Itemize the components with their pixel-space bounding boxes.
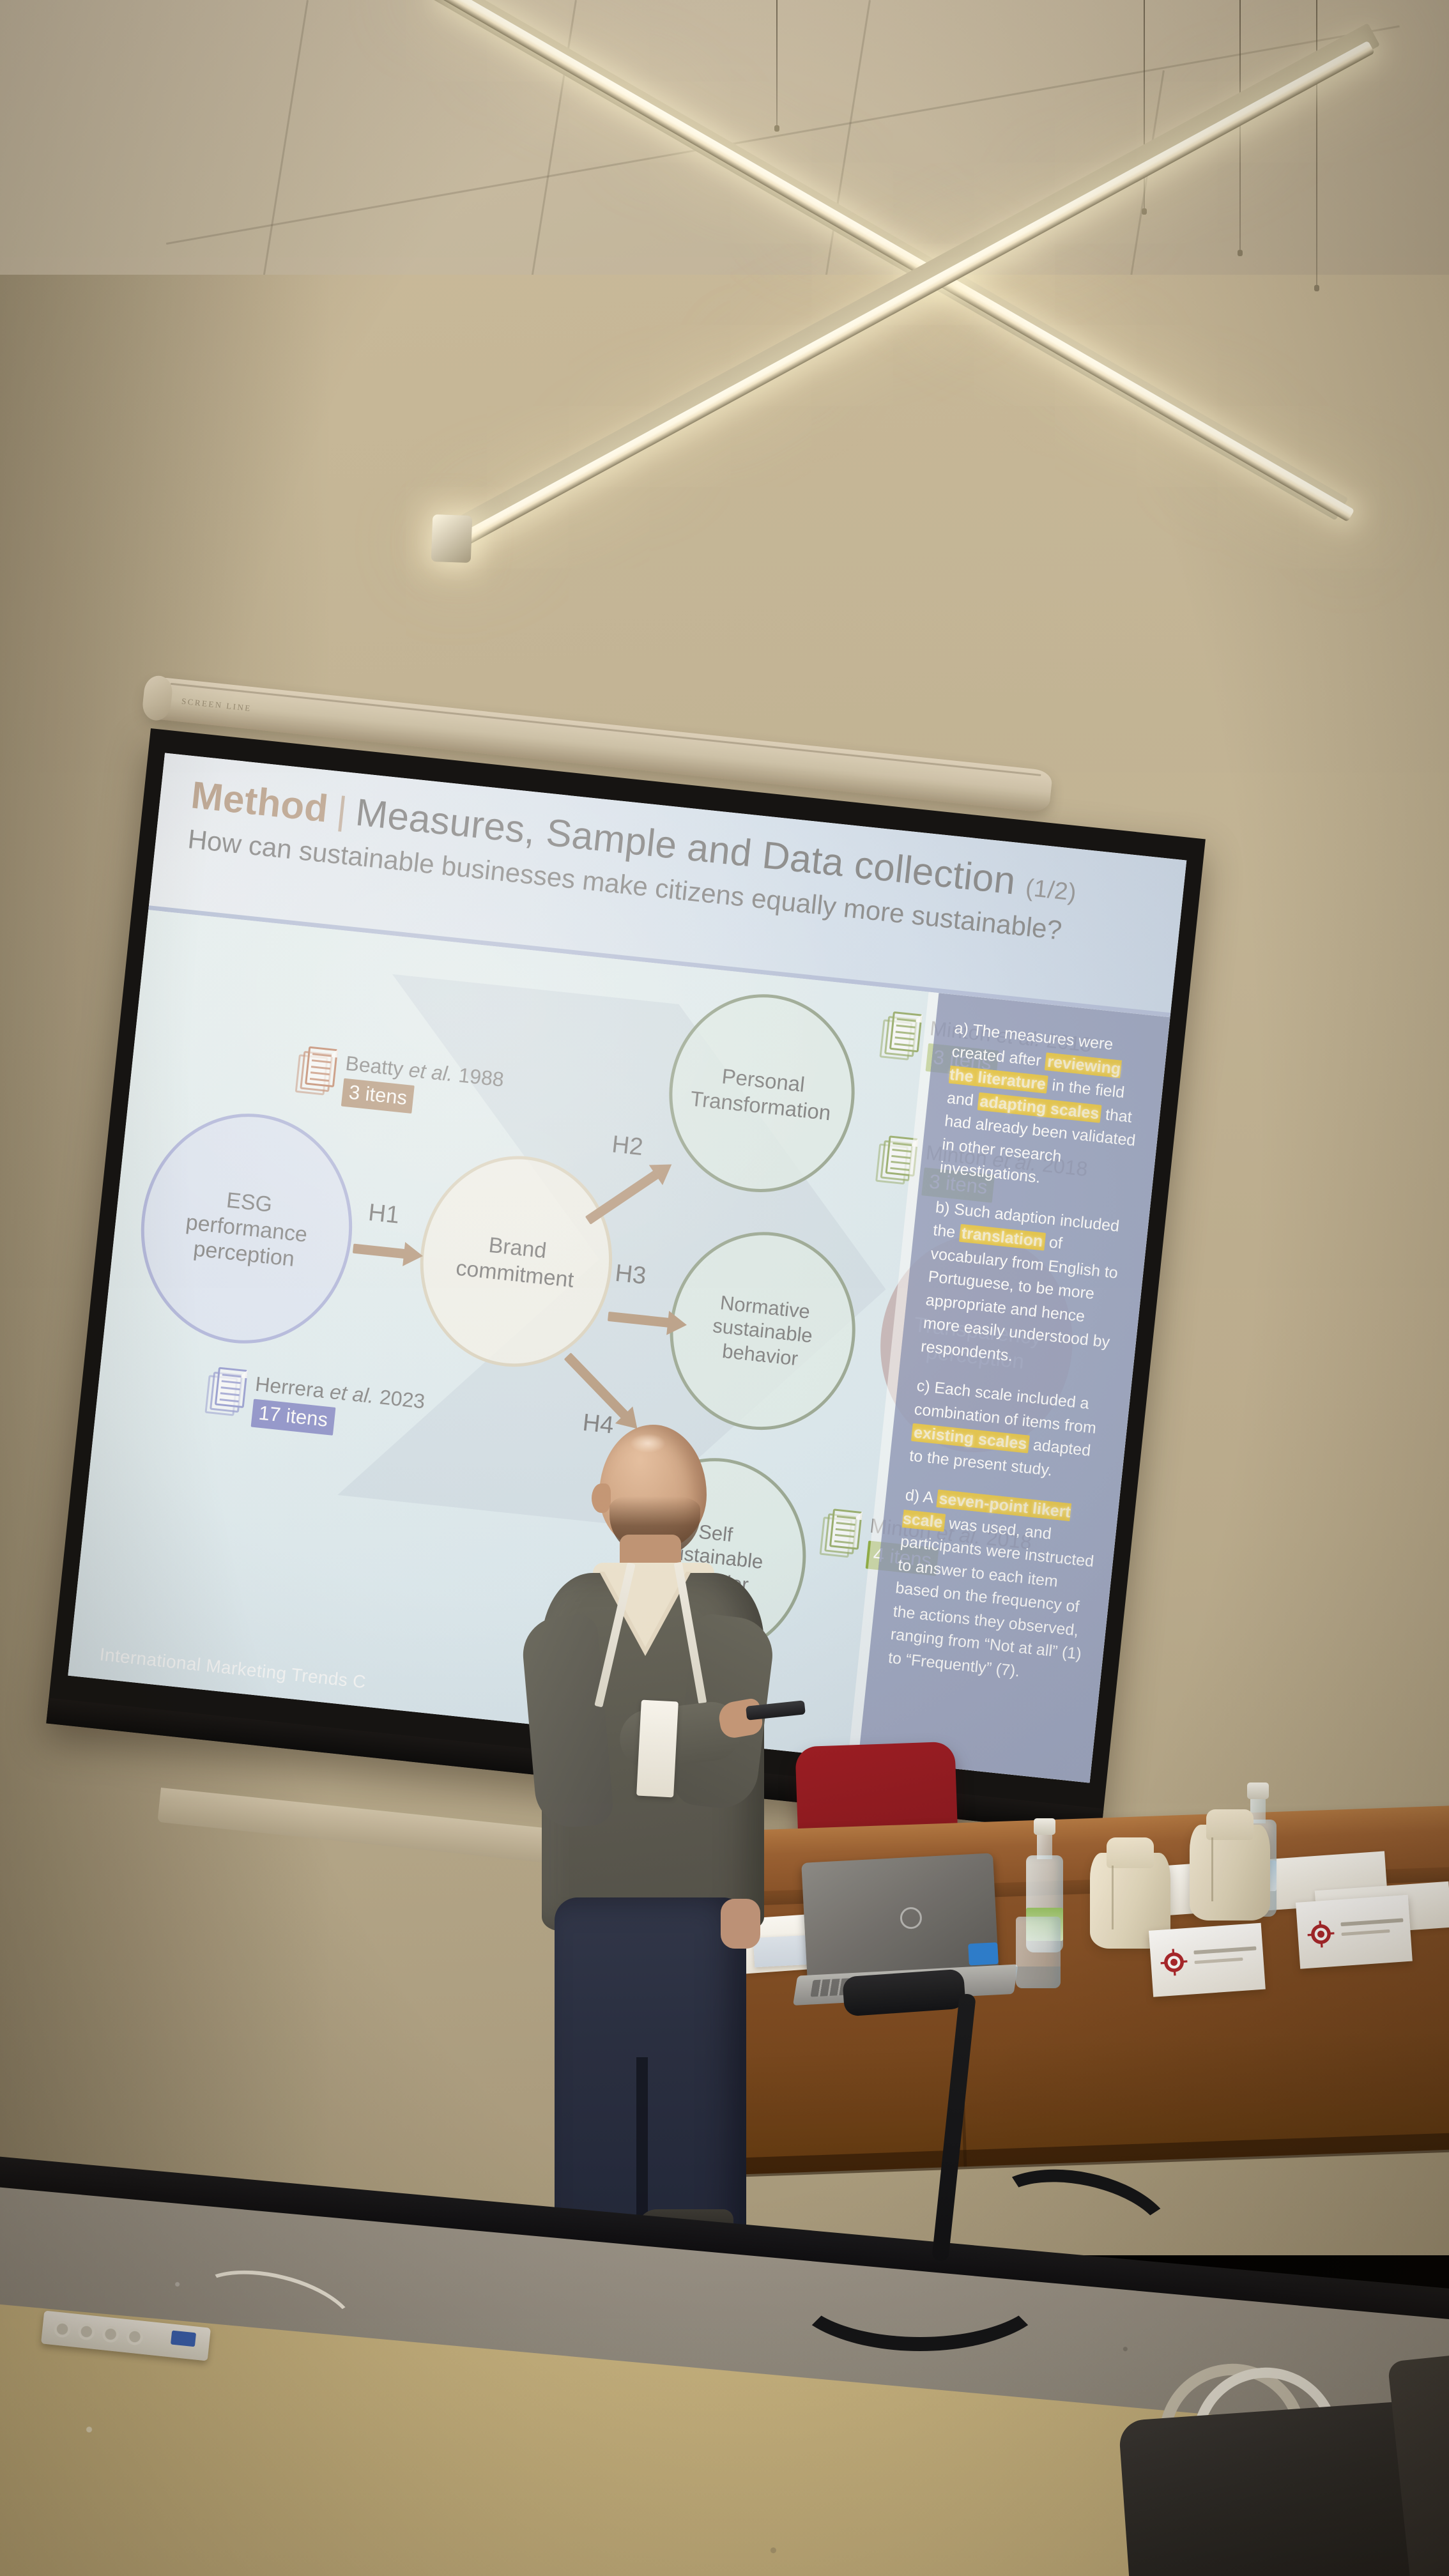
presenter-resting-hand — [721, 1899, 760, 1949]
laptop-charger-brick — [842, 1968, 966, 2016]
citation-herrera-2023: Herrera et al. 2023 17 itens — [204, 1366, 426, 1445]
documents-icon — [295, 1045, 339, 1098]
conference-room-photo: SCREEN LINE Method|Measures, Sample and … — [0, 0, 1449, 2576]
power-strip-switch[interactable] — [171, 2331, 196, 2347]
note-item-d: d) A seven-point likert scale was used, … — [887, 1483, 1102, 1690]
gear-logo-icon — [1306, 1919, 1336, 1949]
drinking-glass[interactable] — [1016, 1917, 1061, 1988]
note-text: that had already been validated in other… — [939, 1105, 1137, 1186]
edge-label-h1: H1 — [367, 1199, 401, 1230]
gift-bag-right[interactable] — [1190, 1825, 1270, 1920]
documents-icon — [819, 1508, 864, 1560]
citation-year: 1988 — [452, 1063, 505, 1091]
node-label-line1: ESG performance — [160, 1181, 336, 1250]
bag-fold — [1211, 1837, 1213, 1901]
gear-logo-icon — [1159, 1947, 1189, 1977]
edge-label-h3: H3 — [614, 1260, 648, 1291]
head-highlight — [630, 1434, 666, 1453]
light-suspension-wire — [776, 0, 778, 128]
note-text: A — [919, 1487, 939, 1507]
presenter-jeans — [555, 1897, 746, 2255]
name-tent-line1 — [1193, 1946, 1256, 1954]
node-label-line2: sustainable behavior — [680, 1311, 842, 1375]
light-suspension-wire — [1316, 0, 1317, 287]
presenter-person — [524, 1425, 779, 2338]
note-text: was used, and participants were instruct… — [887, 1514, 1095, 1680]
laptop-lid — [801, 1853, 999, 1981]
citation-year: 2023 — [373, 1384, 426, 1413]
arrow-h1 — [353, 1244, 423, 1251]
slide-page-indicator: (1/2) — [1024, 875, 1078, 907]
note-item-a: a) The measures were created after revie… — [939, 1016, 1151, 1199]
documents-icon — [879, 1010, 924, 1062]
node-label-line2: commitment — [455, 1255, 575, 1294]
node-esg-performance-perception: ESG performance perception — [130, 1103, 364, 1354]
citation-author: Beatty — [344, 1052, 410, 1081]
black-cable-loop-lower — [786, 2223, 1054, 2351]
name-tent-line1 — [1340, 1918, 1403, 1926]
note-item-b: b) Such adaption included the translatio… — [920, 1195, 1133, 1378]
bag-tie — [1206, 1809, 1253, 1840]
screen-brand-label: SCREEN LINE — [181, 696, 252, 714]
citation-author: Herrera — [254, 1372, 331, 1403]
bag-tie — [1107, 1837, 1154, 1868]
presenter-ear — [592, 1483, 611, 1513]
slide-title-main: Method — [189, 773, 330, 830]
citation-etal: et al. — [329, 1380, 376, 1407]
note-item-c: c) Each scale included a combination of … — [908, 1374, 1114, 1487]
name-tent-card-left[interactable] — [1149, 1923, 1266, 1997]
light-fixture-vertex — [431, 514, 473, 563]
citation-text: Herrera et al. 2023 17 itens — [251, 1371, 427, 1445]
citation-item-count: 17 itens — [251, 1399, 335, 1436]
name-tent-card-right[interactable] — [1296, 1895, 1413, 1969]
note-text: of vocabulary from English to Portuguese… — [920, 1233, 1119, 1365]
citation-item-count: 3 itens — [341, 1078, 415, 1114]
note-highlight: translation — [959, 1224, 1046, 1251]
citation-etal: et al. — [408, 1058, 454, 1085]
name-tent-line2 — [1341, 1929, 1390, 1936]
slide-title-separator: | — [335, 788, 349, 832]
edge-label-h2: H2 — [611, 1131, 645, 1161]
lanyard-badge — [636, 1700, 678, 1798]
laptop-sticker — [968, 1942, 999, 1965]
bag-fold — [1112, 1866, 1114, 1929]
name-tent-line2 — [1194, 1958, 1243, 1964]
light-suspension-wire — [1144, 0, 1145, 211]
documents-icon — [204, 1366, 249, 1418]
laptop-brand-logo — [900, 1906, 923, 1929]
